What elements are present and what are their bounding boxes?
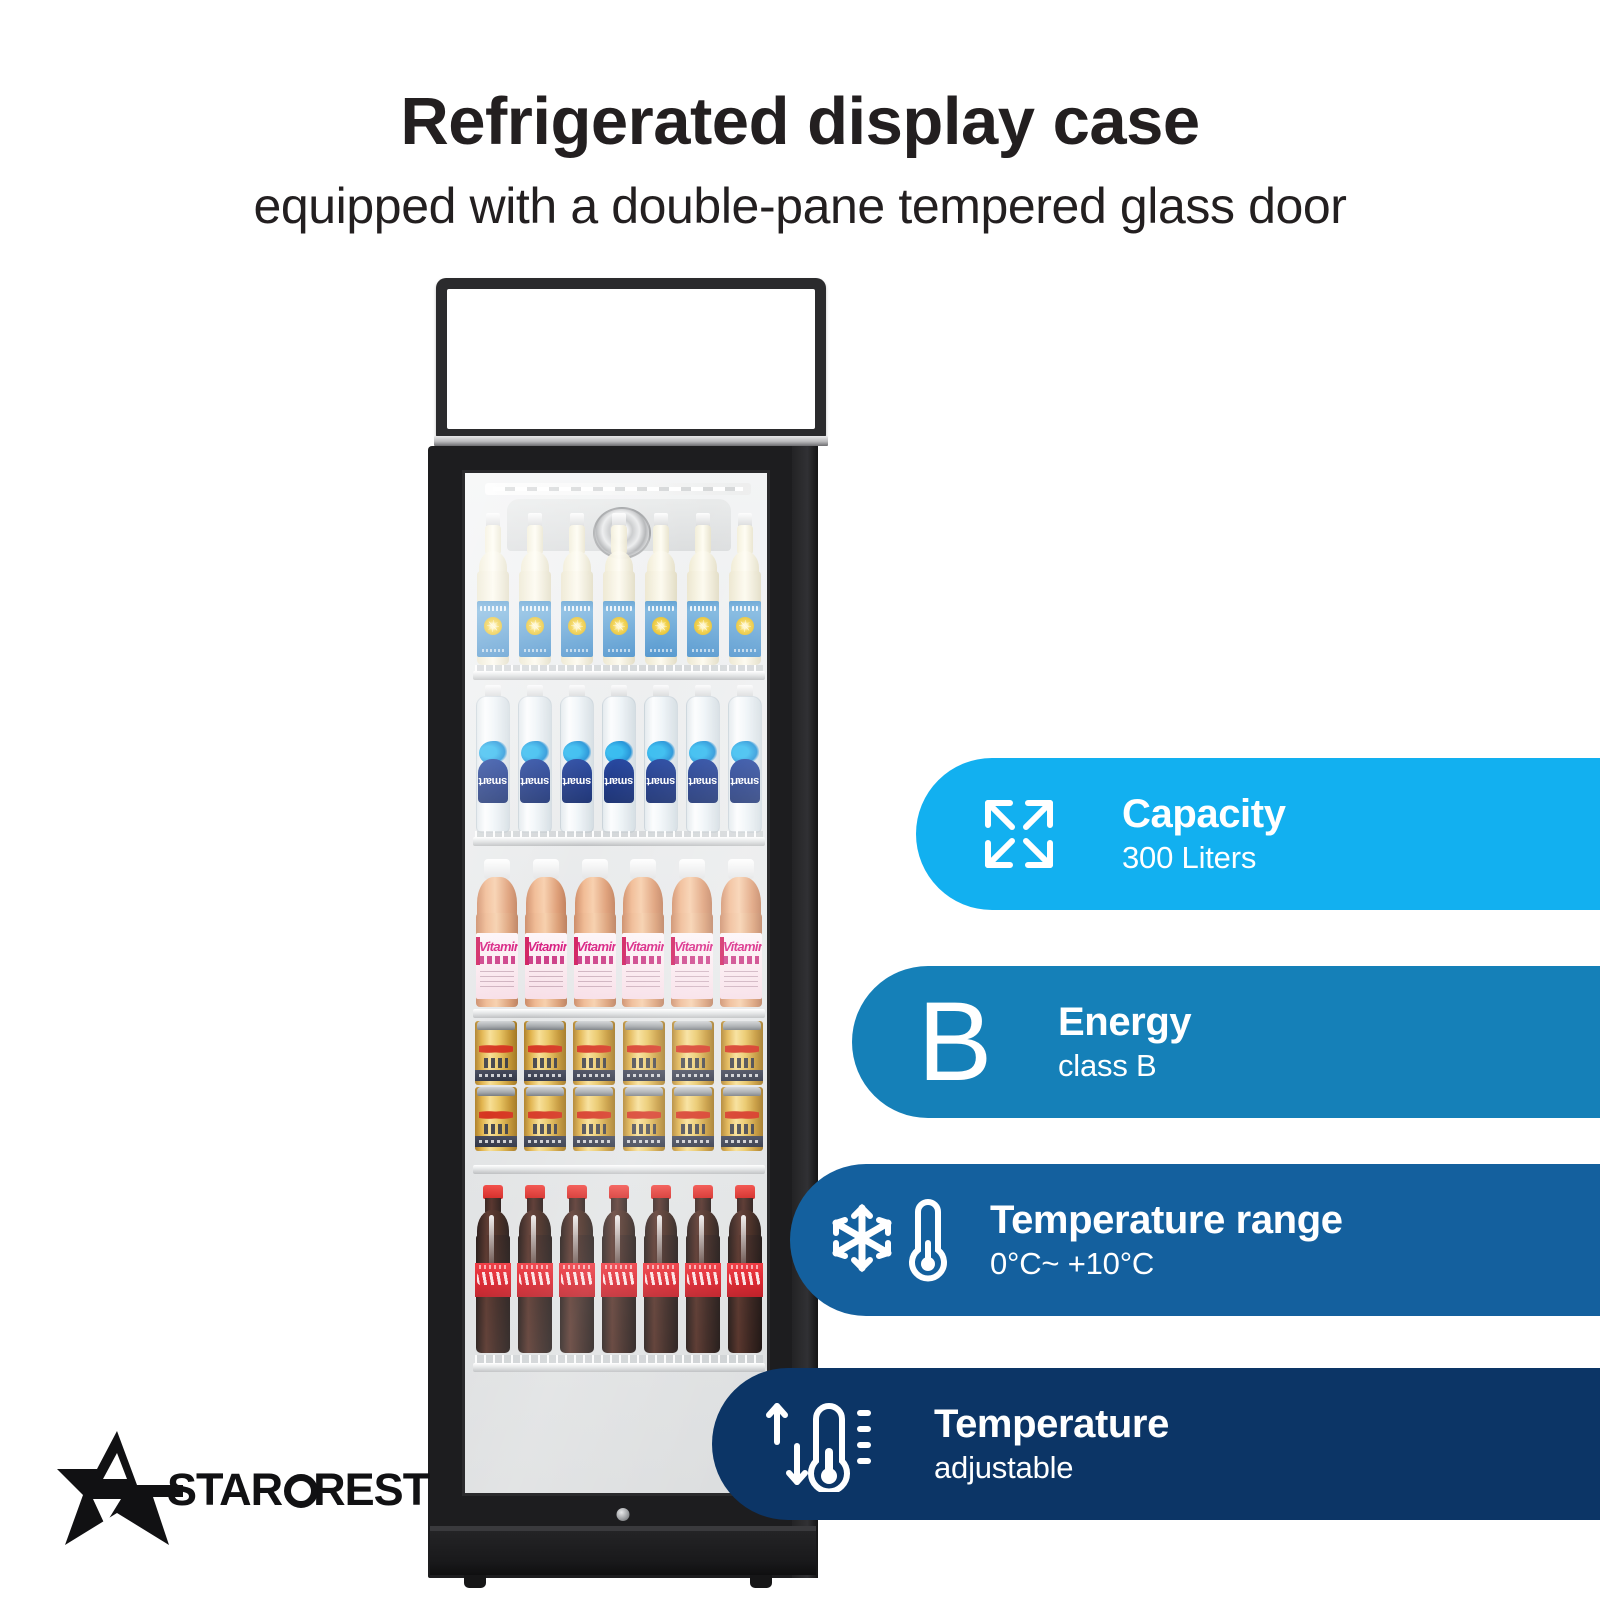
feature-text-temperature-range: Temperature range 0°C~ +10°C [990, 1199, 1600, 1282]
feature-badge-temperature-range[interactable]: Temperature range 0°C~ +10°C [790, 1164, 1600, 1316]
brand-c-letter-icon [284, 1474, 318, 1508]
brand-name-part1: STAR [167, 1464, 282, 1516]
bottle-water: smart [685, 685, 721, 833]
bottle-vitamin-drink: Vitamin [524, 859, 568, 1007]
feature-badge-capacity[interactable]: Capacity 300 Liters [916, 758, 1600, 910]
canopy-lightbox [436, 278, 826, 438]
shelf-row-water: smartsmartsmartsmartsmartsmartsmart [475, 685, 763, 833]
shelf-row-lemon-soda [475, 513, 763, 665]
bottle-vitamin-drink: Vitamin [719, 859, 763, 1007]
feature-value-energy: class B [1058, 1048, 1600, 1084]
can-energy-drink [623, 1021, 665, 1153]
star-icon [57, 1429, 183, 1552]
bottle-lemon-soda [727, 513, 763, 665]
bottle-lemon-soda [601, 513, 637, 665]
bottle-vitamin-drink: Vitamin [670, 859, 714, 1007]
shelf-rail-1 [473, 671, 765, 680]
can-energy-drink [475, 1021, 517, 1153]
feature-badge-temperature[interactable]: Temperature adjustable [712, 1368, 1600, 1520]
feature-badge-energy[interactable]: B Energy class B [852, 966, 1600, 1118]
shelf-rail-4 [473, 1165, 765, 1174]
bottle-lemon-soda [685, 513, 721, 665]
energy-letter: B [918, 986, 993, 1098]
shelf-row-cans [475, 1021, 763, 1153]
bottle-water: smart [601, 685, 637, 833]
cabinet-foot-left [464, 1574, 486, 1588]
adjustable-thermometer-icon [712, 1396, 934, 1492]
plinth-seam [430, 1526, 816, 1531]
bottle-vitamin-drink: Vitamin [621, 859, 665, 1007]
bottle-lemon-soda [643, 513, 679, 665]
feature-value-temperature-range: 0°C~ +10°C [990, 1246, 1600, 1282]
cabinet-interior: smartsmartsmartsmartsmartsmartsmart Vita… [465, 473, 767, 1493]
bottle-cola [727, 1185, 763, 1353]
bottle-lemon-soda [475, 513, 511, 665]
shelf-rail-5 [473, 1363, 765, 1372]
feature-text-temperature: Temperature adjustable [934, 1403, 1600, 1486]
glass-door[interactable]: smartsmartsmartsmartsmartsmartsmart Vita… [462, 470, 770, 1496]
feature-text-energy: Energy class B [1058, 1001, 1600, 1084]
canopy-lip [434, 436, 828, 446]
expand-arrows-icon [916, 791, 1122, 877]
canopy-blank-panel [447, 289, 815, 429]
feature-title-capacity: Capacity [1122, 793, 1600, 836]
cabinet-foot-right [750, 1574, 772, 1588]
can-energy-drink [672, 1021, 714, 1153]
bottle-cola [685, 1185, 721, 1353]
base-plinth [430, 1531, 816, 1575]
led-light-strip [485, 483, 751, 495]
bottle-lemon-soda [559, 513, 595, 665]
snowflake-thermometer-icon [790, 1194, 990, 1286]
feature-title-temperature: Temperature [934, 1403, 1600, 1446]
bottle-water: smart [475, 685, 511, 833]
feature-title-temperature-range: Temperature range [990, 1199, 1600, 1242]
brand-name-part2: REST [313, 1464, 429, 1516]
bottle-lemon-soda [517, 513, 553, 665]
bottle-water: smart [727, 685, 763, 833]
feature-text-capacity: Capacity 300 Liters [1122, 793, 1600, 876]
bottle-cola [601, 1185, 637, 1353]
bottle-cola [559, 1185, 595, 1353]
infographic-page: Refrigerated display case equipped with … [0, 0, 1600, 1600]
shelf-row-cola [475, 1185, 763, 1353]
bottle-vitamin-drink: Vitamin [475, 859, 519, 1007]
bottle-vitamin-drink: Vitamin [573, 859, 617, 1007]
feature-value-temperature: adjustable [934, 1450, 1600, 1486]
door-lock-icon[interactable] [617, 1508, 630, 1521]
shelf-rail-3 [473, 1009, 765, 1018]
bottle-cola [643, 1185, 679, 1353]
bottle-cola [475, 1185, 511, 1353]
feature-title-energy: Energy [1058, 1001, 1600, 1044]
shelf-wire-5 [475, 1355, 763, 1363]
shelf-rail-2 [473, 837, 765, 846]
bottle-water: smart [643, 685, 679, 833]
page-title: Refrigerated display case [0, 86, 1600, 157]
page-subtitle: equipped with a double-pane tempered gla… [0, 179, 1600, 233]
shelf-row-vitamin: VitaminVitaminVitaminVitaminVitaminVitam… [475, 859, 763, 1007]
heading-block: Refrigerated display case equipped with … [0, 86, 1600, 233]
can-energy-drink [573, 1021, 615, 1153]
bottle-water: smart [559, 685, 595, 833]
can-energy-drink [524, 1021, 566, 1153]
feature-value-capacity: 300 Liters [1122, 840, 1600, 876]
can-energy-drink [721, 1021, 763, 1153]
brand-name: STAR REST [167, 1464, 429, 1516]
energy-class-b-icon: B [852, 986, 1058, 1098]
bottle-water: smart [517, 685, 553, 833]
brand-logo: STAR REST [57, 1430, 397, 1550]
bottle-cola [517, 1185, 553, 1353]
